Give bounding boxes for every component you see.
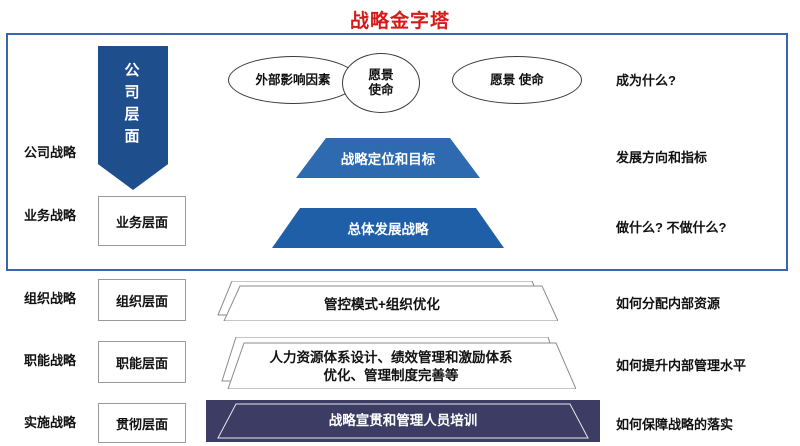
layer-box-implementation: 贯彻层面 [98,403,186,443]
bottom-row-hr-system: 人力资源体系设计、绩效管理和激励体系 优化、管理制度完善等 [206,337,576,389]
layer-box-organization: 组织层面 [98,279,186,321]
bottom-row-hr-system-label: 人力资源体系设计、绩效管理和激励体系 优化、管理制度完善等 [206,341,576,393]
ellipse-internal-factors: 愿景 使命 [452,56,582,104]
ellipse-vision-mission: 愿景 使命 [342,53,420,113]
bottom-row-control-mode-label: 管控模式+组织优化 [206,285,558,325]
right-text-improve: 如何提升内部管理水平 [616,355,746,374]
pyramid-slice-development: 总体发展战略 [272,208,504,248]
hr-system-line1: 人力资源体系设计、绩效管理和激励体系 [270,349,513,367]
pyramid-slice-positioning-label: 战略定位和目标 [341,148,436,168]
bottom-row-control-mode: 管控模式+组织优化 [206,281,558,321]
right-text-do-what: 做什么? 不做什么? [616,217,727,236]
pyramid-slice-positioning: 战略定位和目标 [296,138,480,178]
ellipse-external-factors: 外部影响因素 [228,56,358,104]
right-text-direction: 发展方向和指标 [616,147,707,166]
diagram-canvas: 战略金字塔 公司战略 业务战略 组织战略 职能战略 实施战略 公司层面 业务层面… [0,0,800,446]
level-label-business: 业务战略 [4,205,96,224]
level-label-corporate: 公司战略 [4,142,96,161]
layer-banner-corporate-label: 公司层面 [98,60,168,148]
layer-box-business: 业务层面 [98,196,186,246]
layer-banner-corporate: 公司层面 [98,46,168,190]
bottom-row-training-label: 战略宣贯和管理人员培训 [206,400,600,442]
vision-line: 愿景 [368,68,393,83]
ellipse-vision-mission-text: 愿景 使命 [368,68,393,98]
right-text-allocate: 如何分配内部资源 [616,293,720,312]
right-text-guarantee: 如何保障战略的落实 [616,414,733,433]
page-title: 战略金字塔 [0,6,800,33]
level-label-function: 职能战略 [4,350,96,369]
hr-system-line2: 优化、管理制度完善等 [324,367,459,385]
right-text-become-what: 成为什么? [616,70,676,89]
pyramid-slice-development-label: 总体发展战略 [348,218,429,238]
layer-box-function: 职能层面 [98,341,186,383]
bottom-row-training: 战略宣贯和管理人员培训 [206,400,600,442]
mission-line: 使命 [368,83,393,98]
level-label-organization: 组织战略 [4,288,96,307]
level-label-implementation: 实施战略 [4,412,96,431]
